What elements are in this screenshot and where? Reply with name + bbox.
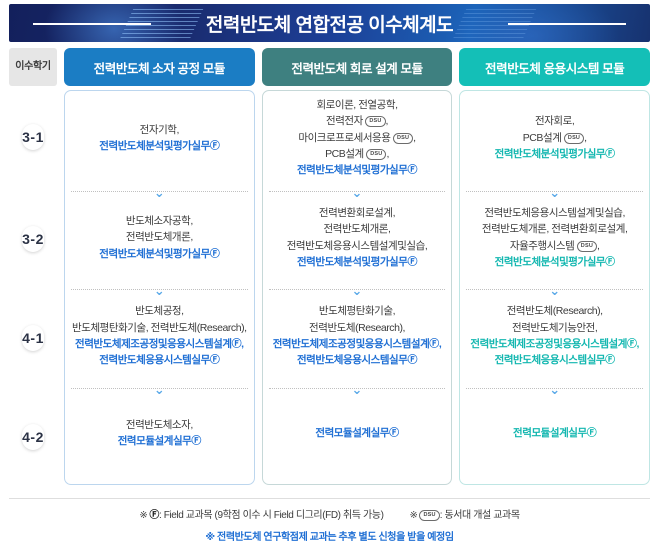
course-line: 반도체평탄화기술, 전력반도체(Research), <box>72 320 247 336</box>
course-line: 전력반도체(Research), <box>470 303 639 319</box>
course-name: , <box>386 148 388 160</box>
semester-pill-3-1: 3-1 <box>22 124 44 150</box>
course-list: 전력반도체응용시스템설계및실습,전력반도체개론, 전력변환회로설계,자율주행시스… <box>482 205 628 270</box>
course-line: 전력반도체(Research), <box>273 320 442 336</box>
course-name-highlighted: 전력모듈설계실무 <box>513 427 587 439</box>
course-line: 전력반도체제조공정및응용시스템설계Ⓕ, <box>72 336 247 353</box>
course-name: 전력반도체(Research), <box>309 322 405 334</box>
legend-star-2: ※ <box>410 510 418 521</box>
course-name-highlighted: 전력반도체분석및평가실무 <box>495 256 606 268</box>
course-name-highlighted: 전력반도체제조공정및응용시스템설계 <box>75 338 232 350</box>
module-column-application-system: 전력반도체 응용시스템 모듈전자회로,PCB설계 DSU,전력반도체분석및평가실… <box>459 48 650 485</box>
course-name: 전자기학, <box>140 124 179 136</box>
course-cell-circuit-design-3-2[interactable]: 전력변환회로설계,전력반도체개론,전력반도체응용시스템설계및실습,전력반도체분석… <box>263 192 452 290</box>
course-line: 반도체소자공학, <box>99 213 219 229</box>
semester-slot: 4-1 <box>9 289 57 389</box>
course-cell-application-system-4-1[interactable]: 전력반도체(Research),전력반도체기능안전,전력반도체제조공정및응용시스… <box>460 290 649 388</box>
course-line: 마이크로프로세서응용 DSU, <box>297 130 417 146</box>
field-mark-icon: Ⓕ <box>407 257 417 268</box>
course-name: , <box>584 132 586 144</box>
course-line: 전력반도체응용시스템실무Ⓕ <box>72 352 247 369</box>
course-cell-application-system-3-1[interactable]: 전자회로,PCB설계 DSU,전력반도체분석및평가실무Ⓕ <box>460 91 649 191</box>
dsu-badge-icon: DSU <box>393 133 413 144</box>
course-list: 전자회로,PCB설계 DSU,전력반도체분석및평가실무Ⓕ <box>495 113 615 162</box>
course-name-highlighted: 전력반도체분석및평가실무 <box>297 164 408 176</box>
course-name-highlighted: 전력반도체제조공정및응용시스템설계 <box>273 338 430 350</box>
course-line: 전력전자 DSU, <box>297 113 417 129</box>
banner-rule-right <box>508 23 626 25</box>
field-mark-icon: Ⓕ <box>605 149 615 160</box>
course-line: 전력변환회로설계, <box>287 205 428 221</box>
course-name-highlighted: , <box>637 338 639 350</box>
course-name-highlighted: 전력모듈설계실무 <box>315 427 389 439</box>
course-line: 반도체평탄화기술, <box>273 303 442 319</box>
semester-header-line2: 학기 <box>33 61 51 73</box>
field-mark-icon: Ⓕ <box>389 428 399 439</box>
course-name-highlighted: 전력모듈설계실무 <box>118 435 192 447</box>
semester-slot: 4-2 <box>9 388 57 485</box>
course-line: 전력반도체개론, <box>99 229 219 245</box>
course-name: 전력반도체개론, <box>126 231 193 243</box>
course-line: 전력반도체제조공정및응용시스템설계Ⓕ, <box>470 336 639 353</box>
course-name: 반도체소자공학, <box>126 215 193 227</box>
module-card-device-process: 전자기학,전력반도체분석및평가실무Ⓕ⌄반도체소자공학,전력반도체개론,전력반도체… <box>64 90 255 485</box>
dsu-badge-icon: DSU <box>419 510 439 521</box>
field-mark-icon: Ⓕ <box>232 339 242 350</box>
course-name-highlighted: 전력반도체응용시스템실무 <box>99 354 210 366</box>
course-line: 전력반도체분석및평가실무Ⓕ <box>99 138 219 155</box>
course-name-highlighted: 전력반도체제조공정및응용시스템설계 <box>470 338 627 350</box>
course-line: 전력반도체분석및평가실무Ⓕ <box>482 254 628 271</box>
curriculum-grid: 이수 학기 3-13-24-14-2 전력반도체 소자 공정 모듈전자기학,전력… <box>9 48 650 485</box>
course-cell-circuit-design-4-1[interactable]: 반도체평탄화기술,전력반도체(Research),전력반도체제조공정및응용시스템… <box>263 290 452 388</box>
page-title-banner: 전력반도체 연합전공 이수체계도 <box>9 4 650 42</box>
course-list: 전력반도체소자,전력모듈설계실무Ⓕ <box>118 417 201 450</box>
field-mark-icon: Ⓕ <box>407 165 417 176</box>
course-line: 전력반도체분석및평가실무Ⓕ <box>495 146 615 163</box>
course-name: 전력전자 <box>326 115 365 127</box>
course-list: 반도체소자공학,전력반도체개론,전력반도체분석및평가실무Ⓕ <box>99 213 219 262</box>
course-name: 전자회로, <box>535 115 574 127</box>
curriculum-diagram-page: 전력반도체 연합전공 이수체계도 이수 학기 3-13-24-14-2 전력반도… <box>0 4 659 547</box>
field-mark-icon: Ⓕ <box>210 141 220 152</box>
course-name: PCB설계 <box>523 132 564 144</box>
course-name: 전력반도체소자, <box>126 419 193 431</box>
course-name: 전력반도체응용시스템설계및실습, <box>484 207 625 219</box>
field-mark-icon: Ⓕ <box>191 436 201 447</box>
course-name-highlighted: 전력반도체분석및평가실무 <box>297 256 408 268</box>
semester-pill-3-2: 3-2 <box>22 226 44 252</box>
course-line: PCB설계 DSU, <box>495 130 615 146</box>
course-cell-circuit-design-4-2[interactable]: 전력모듈설계실무Ⓕ <box>263 389 452 484</box>
field-mark-icon: Ⓕ <box>149 510 159 521</box>
course-list: 반도체평탄화기술,전력반도체(Research),전력반도체제조공정및응용시스템… <box>273 303 442 369</box>
course-line: 전력모듈설계실무Ⓕ <box>118 433 201 450</box>
course-cell-device-process-3-1[interactable]: 전자기학,전력반도체분석및평가실무Ⓕ <box>65 91 254 191</box>
course-line: PCB설계 DSU, <box>297 146 417 162</box>
module-column-device-process: 전력반도체 소자 공정 모듈전자기학,전력반도체분석및평가실무Ⓕ⌄반도체소자공학… <box>64 48 255 485</box>
course-line: 회로이론, 전열공학, <box>297 97 417 113</box>
course-line: 전력반도체개론, 전력변환회로설계, <box>482 221 628 237</box>
field-mark-icon: Ⓕ <box>210 249 220 260</box>
course-name: 반도체평탄화기술, <box>319 305 395 317</box>
semester-pill-4-1: 4-1 <box>22 325 44 351</box>
course-line: 전자회로, <box>495 113 615 129</box>
course-list: 전자기학,전력반도체분석및평가실무Ⓕ <box>99 122 219 155</box>
course-list: 전력변환회로설계,전력반도체개론,전력반도체응용시스템설계및실습,전력반도체분석… <box>287 205 428 270</box>
course-name: , <box>597 240 599 252</box>
course-name: 회로이론, 전열공학, <box>316 99 397 111</box>
course-cell-device-process-4-1[interactable]: 반도체공정,반도체평탄화기술, 전력반도체(Research),전력반도체제조공… <box>65 290 254 388</box>
semester-column-header: 이수 학기 <box>9 48 57 86</box>
field-mark-icon: Ⓕ <box>429 339 439 350</box>
course-list: 반도체공정,반도체평탄화기술, 전력반도체(Research),전력반도체제조공… <box>72 303 247 369</box>
course-name: 반도체공정, <box>135 305 184 317</box>
course-name-highlighted: 전력반도체응용시스템실무 <box>495 354 606 366</box>
banner-rule-left <box>33 23 151 25</box>
course-name: 전력반도체개론, <box>324 223 391 235</box>
semester-column: 이수 학기 3-13-24-14-2 <box>9 48 57 485</box>
module-card-circuit-design: 회로이론, 전열공학,전력전자 DSU,마이크로프로세서응용 DSU,PCB설계… <box>262 90 453 485</box>
module-column-circuit-design: 전력반도체 회로 설계 모듈회로이론, 전열공학,전력전자 DSU,마이크로프로… <box>262 48 453 485</box>
course-line: 전자기학, <box>99 122 219 138</box>
course-name-highlighted: , <box>439 338 441 350</box>
course-name-highlighted: 전력반도체분석및평가실무 <box>99 248 210 260</box>
course-line: 전력반도체분석및평가실무Ⓕ <box>99 246 219 263</box>
dsu-badge-icon: DSU <box>564 133 584 144</box>
course-line: 전력반도체응용시스템실무Ⓕ <box>273 352 442 369</box>
course-list: 전력모듈설계실무Ⓕ <box>513 425 596 442</box>
legend-star-1: ※ <box>139 510 147 521</box>
semester-pill-4-2: 4-2 <box>22 424 44 450</box>
field-mark-icon: Ⓕ <box>605 355 615 366</box>
dsu-badge-icon: DSU <box>577 241 597 252</box>
course-line: 전력반도체제조공정및응용시스템설계Ⓕ, <box>273 336 442 353</box>
course-cell-circuit-design-3-1[interactable]: 회로이론, 전열공학,전력전자 DSU,마이크로프로세서응용 DSU,PCB설계… <box>263 91 452 191</box>
legend-text-field: : Field 교과목 (9학점 이수 시 Field 디그리(FD) 취득 가… <box>159 510 384 521</box>
dsu-badge-icon: DSU <box>365 116 385 127</box>
footer-note: ※ 전력반도체 연구학점제 교과는 추후 별도 신청을 받을 예정임 <box>9 526 650 543</box>
course-name-highlighted: 전력반도체응용시스템실무 <box>297 354 408 366</box>
course-name-highlighted: 전력반도체분석및평가실무 <box>495 148 606 160</box>
course-line: 전력반도체분석및평가실무Ⓕ <box>287 254 428 271</box>
course-cell-application-system-3-2[interactable]: 전력반도체응용시스템설계및실습,전력반도체개론, 전력변환회로설계,자율주행시스… <box>460 192 649 290</box>
semester-slot: 3-1 <box>9 86 57 189</box>
course-name-highlighted: , <box>241 338 243 350</box>
course-name: 전력반도체개론, 전력변환회로설계, <box>482 223 628 235</box>
page-title: 전력반도체 연합전공 이수체계도 <box>192 10 467 37</box>
module-header-device-process[interactable]: 전력반도체 소자 공정 모듈 <box>64 48 255 86</box>
legend-row: ※Ⓕ: Field 교과목 (9학점 이수 시 Field 디그리(FD) 취득… <box>9 498 650 526</box>
field-mark-icon: Ⓕ <box>210 355 220 366</box>
course-list: 전력모듈설계실무Ⓕ <box>315 425 398 442</box>
course-name: 반도체평탄화기술, 전력반도체(Research), <box>72 322 247 334</box>
course-line: 전력반도체개론, <box>287 221 428 237</box>
course-line: 전력반도체응용시스템실무Ⓕ <box>470 352 639 369</box>
legend-item-field: ※Ⓕ: Field 교과목 (9학점 이수 시 Field 디그리(FD) 취득… <box>139 506 383 521</box>
module-header-application-system[interactable]: 전력반도체 응용시스템 모듈 <box>459 48 650 86</box>
course-line: 전력모듈설계실무Ⓕ <box>513 425 596 442</box>
course-name: 전력변환회로설계, <box>319 207 395 219</box>
course-name: 전력반도체기능안전, <box>512 322 597 334</box>
course-line: 전력반도체분석및평가실무Ⓕ <box>297 162 417 179</box>
course-line: 전력반도체소자, <box>118 417 201 433</box>
course-line: 자율주행시스템 DSU, <box>482 238 628 254</box>
module-card-application-system: 전자회로,PCB설계 DSU,전력반도체분석및평가실무Ⓕ⌄전력반도체응용시스템설… <box>459 90 650 485</box>
semester-slot: 3-2 <box>9 189 57 289</box>
course-line: 전력반도체응용시스템설계및실습, <box>482 205 628 221</box>
course-name: 전력반도체응용시스템설계및실습, <box>287 240 428 252</box>
course-name: , <box>386 115 388 127</box>
footer-legend: ※Ⓕ: Field 교과목 (9학점 이수 시 Field 디그리(FD) 취득… <box>9 498 650 543</box>
course-name: , <box>413 132 415 144</box>
course-line: 전력반도체응용시스템설계및실습, <box>287 238 428 254</box>
course-name: 마이크로프로세서응용 <box>298 132 393 144</box>
course-name: 자율주행시스템 <box>510 240 577 252</box>
field-mark-icon: Ⓕ <box>627 339 637 350</box>
course-list: 전력반도체(Research),전력반도체기능안전,전력반도체제조공정및응용시스… <box>470 303 639 369</box>
field-mark-icon: Ⓕ <box>587 428 597 439</box>
course-cell-device-process-4-2[interactable]: 전력반도체소자,전력모듈설계실무Ⓕ <box>65 389 254 484</box>
semester-label-list: 3-13-24-14-2 <box>9 86 57 485</box>
dsu-badge-icon: DSU <box>366 149 386 160</box>
course-line: 전력모듈설계실무Ⓕ <box>315 425 398 442</box>
course-name: 전력반도체(Research), <box>507 305 603 317</box>
semester-header-line1: 이수 <box>15 61 33 73</box>
field-mark-icon: Ⓕ <box>605 257 615 268</box>
course-list: 회로이론, 전열공학,전력전자 DSU,마이크로프로세서응용 DSU,PCB설계… <box>297 97 417 179</box>
course-name-highlighted: 전력반도체분석및평가실무 <box>99 140 210 152</box>
course-cell-device-process-3-2[interactable]: 반도체소자공학,전력반도체개론,전력반도체분석및평가실무Ⓕ <box>65 192 254 290</box>
module-header-circuit-design[interactable]: 전력반도체 회로 설계 모듈 <box>262 48 453 86</box>
field-mark-icon: Ⓕ <box>407 355 417 366</box>
legend-item-dsu: ※DSU: 동서대 개설 교과목 <box>410 506 520 521</box>
course-line: 전력반도체기능안전, <box>470 320 639 336</box>
course-name: PCB설계 <box>325 148 366 160</box>
legend-text-dsu: : 동서대 개설 교과목 <box>440 510 520 521</box>
course-line: 반도체공정, <box>72 303 247 319</box>
course-cell-application-system-4-2[interactable]: 전력모듈설계실무Ⓕ <box>460 389 649 484</box>
